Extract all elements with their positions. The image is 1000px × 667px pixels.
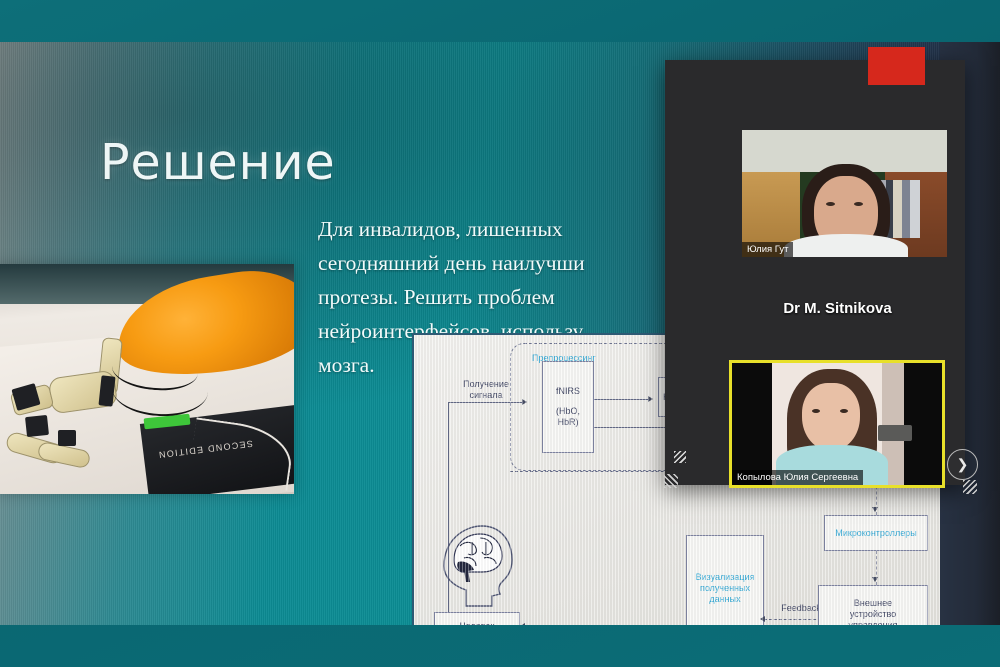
signal-arrow [522,399,527,405]
next-page-button[interactable]: ❯ [947,449,978,480]
node-fnirs: fNIRS(HbO,HbR) [542,361,594,453]
node-microcontrollers: Микроконтроллеры [824,515,928,551]
chevron-right-icon: ❯ [957,456,969,473]
participant-name-1: Юлия Гут [742,242,793,257]
node-external-device: Внешнее устройство управления [818,585,928,625]
classify-arrow [648,396,653,402]
prosthetic-hand-photo: SECOND EDITION [0,264,294,494]
recording-indicator [868,47,925,85]
human-arrow [520,623,525,625]
mcu-arrow [872,507,878,512]
participant-tile-1[interactable]: Юлия Гут [742,130,947,257]
participant-name-2: Копылова Юлия Сергеевна [732,470,863,485]
monitor-frame: Решение Для инвалидов, лишенных сегодняш… [0,0,1000,667]
speaker-name-overlay: Dr M. Sitnikova [755,300,920,317]
node-visualization: Визуализация полученных данных [686,535,764,625]
slide-title: Решение [100,134,336,191]
fnirs-to-classify [594,399,650,400]
participant-tile-2[interactable]: Копылова Юлия Сергеевна [729,360,945,488]
node-human: Человек [434,612,520,625]
feedback-arrow [760,616,765,622]
photo-robot-hand [4,342,184,482]
external-arrow [872,577,878,582]
screen: Решение Для инвалидов, лишенных сегодняш… [0,42,1000,625]
panel-resize-handle-bottom-right[interactable] [963,480,977,494]
signal-label: Получение сигнала [446,379,526,401]
diagram-resize-handle[interactable] [674,451,686,463]
signal-edge-h [448,402,524,403]
panel-resize-handle-bottom-left[interactable] [664,474,678,488]
human-head-illustration [436,520,520,612]
